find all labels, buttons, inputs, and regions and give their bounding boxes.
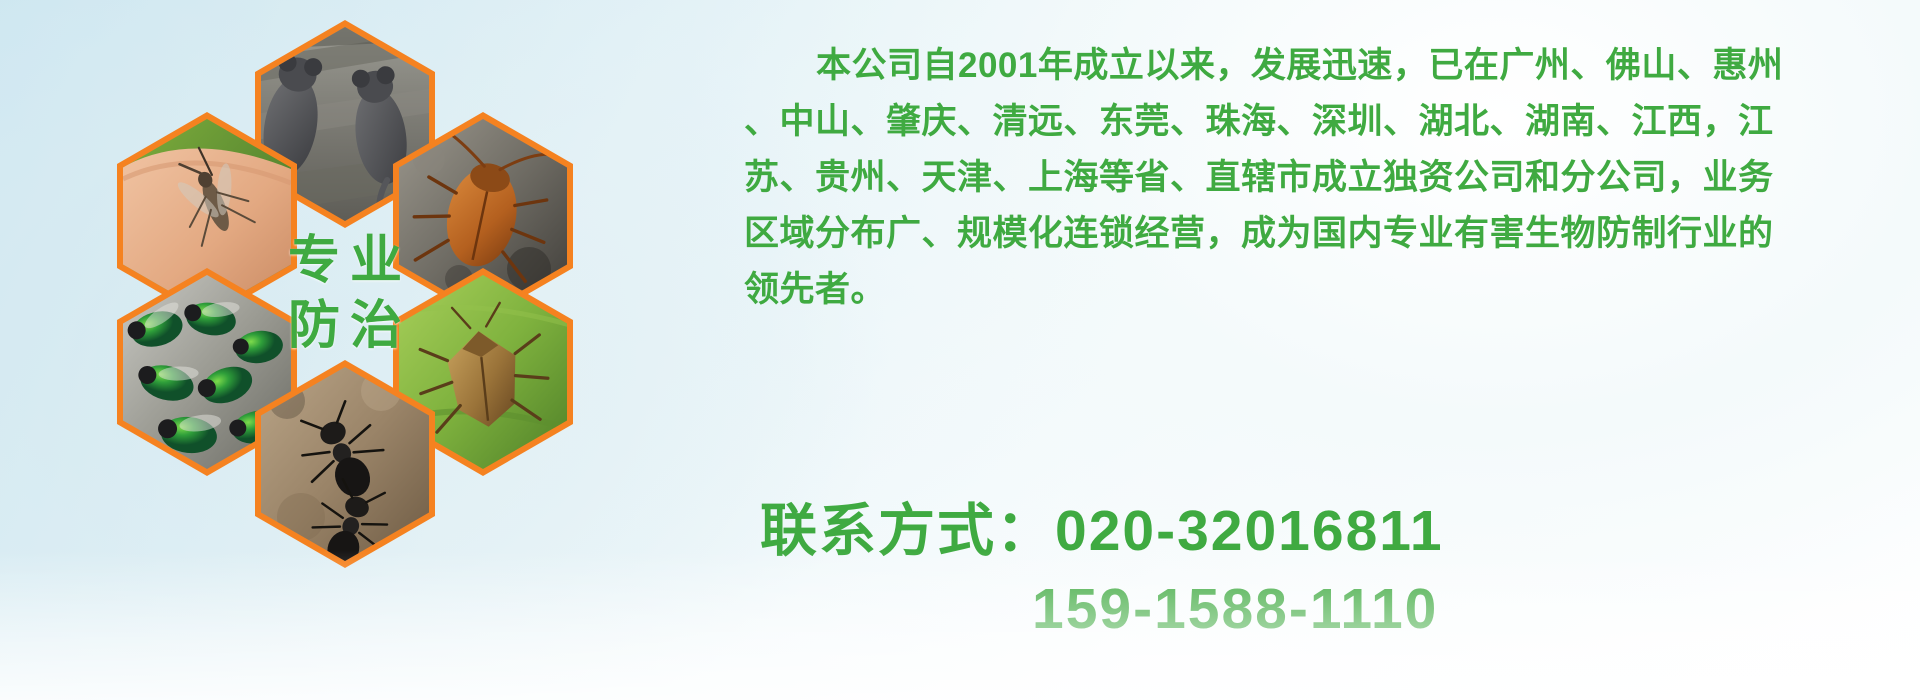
- hex-center-label-line-1: 专业: [278, 229, 412, 294]
- promo-banner: 专业 防治 本公司自2001年成立以来，发展迅速，已在广州、佛山、惠州 、中山、…: [0, 0, 1920, 700]
- intro-line-4: 区域分布广、规模化连锁经营，成为国内专业有害生物防制行业的: [744, 206, 1874, 262]
- hexagon-photo-cluster: 专业 防治: [95, 8, 595, 568]
- intro-line-1: 本公司自2001年成立以来，发展迅速，已在广州、佛山、惠州: [744, 38, 1874, 94]
- contact-phone-primary[interactable]: 020-32016811: [1055, 499, 1444, 563]
- company-intro-paragraph: 本公司自2001年成立以来，发展迅速，已在广州、佛山、惠州 、中山、肇庆、清远、…: [744, 38, 1874, 318]
- intro-line-2: 、中山、肇庆、清远、东莞、珠海、深圳、湖北、湖南、江西，江: [744, 94, 1874, 150]
- hex-center-label-line-2: 防治: [278, 294, 412, 359]
- contact-block: 联系方式：020-32016811 159-1588-1110: [760, 492, 1880, 648]
- hex-center-label: 专业 防治: [255, 190, 435, 398]
- contact-primary-line: 联系方式：020-32016811: [760, 492, 1880, 570]
- intro-line-5: 领先者。: [744, 262, 1874, 318]
- contact-secondary-line: 159-1588-1110: [760, 570, 1880, 648]
- intro-line-3: 苏、贵州、天津、上海等省、直辖市成立独资公司和分公司，业务: [744, 150, 1874, 206]
- contact-label: 联系方式：: [760, 499, 1055, 563]
- contact-phone-secondary[interactable]: 159-1588-1110: [1032, 577, 1438, 641]
